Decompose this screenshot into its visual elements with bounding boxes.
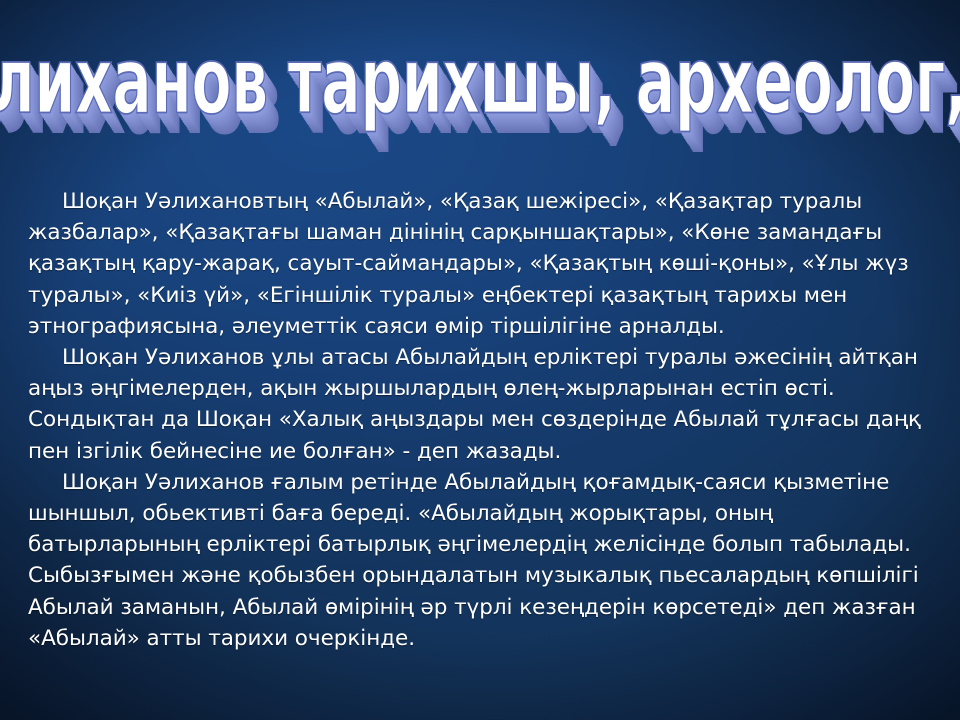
page-title: Шоқан Уәлиханов тарихшы, археолог, этног… bbox=[0, 28, 960, 135]
paragraph-2: Шоқан Уәлиханов ұлы атасы Абылайдың ерлі… bbox=[28, 342, 940, 467]
slide-title-container: Шоқан Уәлиханов тарихшы, археолог, этног… bbox=[0, 18, 960, 146]
presentation-slide: Шоқан Уәлиханов тарихшы, археолог, этног… bbox=[0, 0, 960, 720]
slide-title-wordart: Шоқан Уәлиханов тарихшы, археолог, этног… bbox=[0, 35, 960, 129]
paragraph-1: Шоқан Уәлихановтың «Абылай», «Қазақ шежі… bbox=[28, 186, 940, 342]
slide-body-text: Шоқан Уәлихановтың «Абылай», «Қазақ шежі… bbox=[28, 186, 940, 654]
paragraph-3: Шоқан Уәлиханов ғалым ретінде Абылайдың … bbox=[28, 467, 940, 654]
